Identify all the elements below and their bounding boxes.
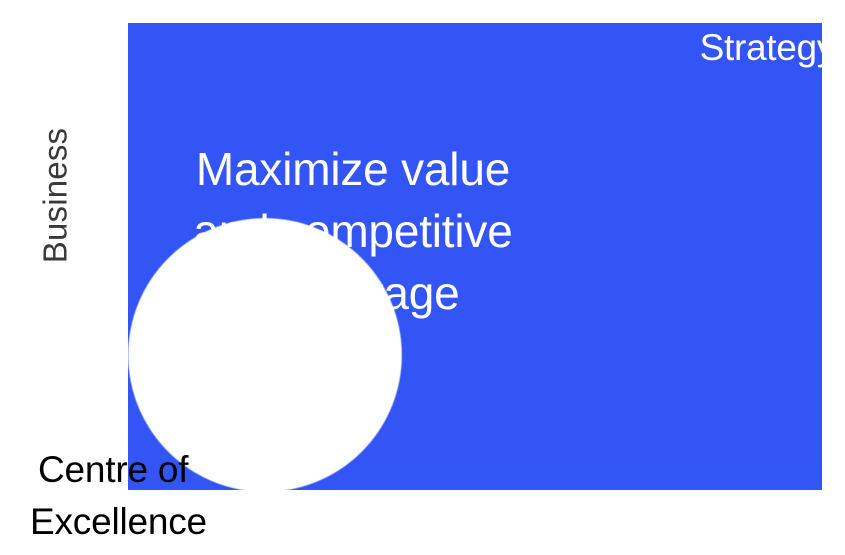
business-axis-label: Business bbox=[0, 110, 110, 280]
headline-text-group: Maximize value and competitive advantage bbox=[158, 138, 548, 324]
headline-line-3: advantage bbox=[158, 262, 548, 324]
headline-line-2: and competitive bbox=[158, 200, 548, 262]
centre-of-excellence-line-1: Centre of bbox=[30, 444, 207, 496]
headline-line-1: Maximize value bbox=[158, 138, 548, 200]
strategy-corner-label: Strategy bbox=[700, 29, 835, 66]
centre-of-excellence-label: Centre of Excellence bbox=[30, 444, 207, 548]
business-axis-label-text: Business bbox=[39, 127, 72, 263]
slide-canvas: Strategy Maximize value and competitive … bbox=[0, 0, 845, 555]
centre-of-excellence-line-2: Excellence bbox=[30, 496, 207, 548]
